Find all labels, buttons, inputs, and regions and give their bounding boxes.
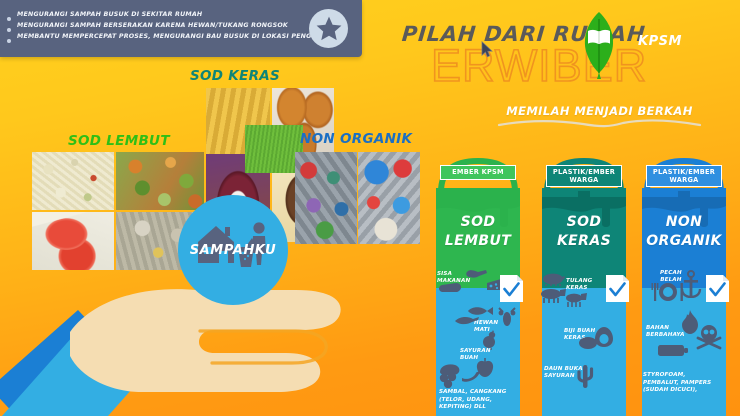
bullet-dot-icon	[7, 17, 11, 21]
chicken-icon	[480, 330, 498, 350]
header-banner: MENGURANGI SAMPAH BUSUK DI SEKITAR RUMAH…	[0, 0, 362, 57]
header-bullet-text: MENGURANGI SAMPAH BERSERAKAN KARENA HEWA…	[17, 23, 288, 29]
bin-title-line2: LEMBUT	[430, 232, 526, 251]
bin-sod-keras[interactable]: PLASTIK/EMBER WARGA SOD KERAS TULANG KER…	[536, 158, 632, 416]
category-label-sod-keras: SOD KERAS	[190, 68, 280, 84]
sampahku-label: SAMPAHKU	[178, 243, 288, 258]
plate-fork-knife-icon	[651, 282, 685, 302]
bin-tag-line2: WARGA	[570, 176, 599, 184]
bin-title: NON ORGANIK	[636, 213, 732, 251]
lobster-icon	[498, 307, 516, 327]
pig-icon	[541, 272, 565, 286]
grapes-icon	[439, 372, 461, 388]
subtitle-text: MEMILAH MENJADI BERKAH	[487, 104, 712, 118]
header-bullet-text: MENGURANGI SAMPAH BUSUK DI SEKITAR RUMAH	[17, 12, 202, 18]
bin-tag-line2: WARGA	[670, 176, 699, 184]
header-bullet-item: MEMBANTU MEMPERCEPAT PROSES, MENGURANGI …	[0, 34, 362, 43]
star-icon	[309, 9, 348, 48]
bin-tag-line1: PLASTIK/EMBER	[553, 168, 615, 176]
bin-note-text: SAMBAL, CANGKANG (TELOR, UDANG, KEPITING…	[439, 389, 506, 412]
header-bullet-item: MENGURANGI SAMPAH BUSUK DI SEKITAR RUMAH	[0, 12, 362, 21]
bullet-dot-icon	[7, 39, 11, 43]
bullet-dot-icon	[7, 28, 11, 32]
chicken-drumstick-icon	[464, 268, 488, 282]
bin-non-organik[interactable]: PLASTIK/EMBER WARGA NON ORGANIK PECAH BE…	[636, 158, 732, 416]
checklist-document-icon	[705, 274, 730, 308]
bin-title-line1: SOD	[430, 213, 526, 232]
mango-seed-icon	[578, 336, 598, 350]
cactus-icon	[576, 362, 594, 388]
bin-tag-label: PLASTIK/EMBER WARGA	[546, 165, 622, 187]
bin-title-line1: NON	[636, 213, 732, 232]
bin-tag-label: PLASTIK/EMBER WARGA	[646, 165, 722, 187]
bin-title-line2: ORGANIK	[636, 232, 732, 251]
cow-icon	[539, 287, 567, 304]
bin-tag-line1: PLASTIK/EMBER	[653, 168, 715, 176]
infographic-poster: SAMPAHKU SOD LEMBUT SOD KERAS NON ORGANI…	[0, 0, 740, 416]
poster-title: ERWIBER PILAH DARI RUMAH KPSM	[395, 8, 735, 86]
chili-icon	[461, 370, 481, 384]
goat-icon	[564, 292, 588, 308]
bin-sod-lembut[interactable]: EMBER KPSM SOD LEMBUT SISA MAKANAN	[430, 158, 526, 416]
title-kpsm: KPSM	[638, 34, 682, 49]
checklist-document-icon	[605, 274, 630, 308]
header-bullet-list: MENGURANGI SAMPAH BUSUK DI SEKITAR RUMAH…	[0, 0, 362, 43]
checklist-document-icon	[499, 274, 524, 308]
category-label-sod-lembut: SOD LEMBUT	[68, 133, 170, 149]
subtitle-block: MEMILAH MENJADI BERKAH	[487, 104, 712, 129]
bin-item-label: TULANG KERAS	[566, 278, 592, 291]
bin-note-text: STYROFOAM, PEMBALUT, PAMPERS (SUDAH DICU…	[643, 372, 711, 395]
bin-title-line1: SOD	[536, 213, 632, 232]
header-bullet-text: MEMBANTU MEMPERCEPAT PROSES, MENGURANGI …	[17, 34, 342, 40]
category-label-non-organik: NON ORGANIK	[300, 131, 412, 147]
lizard-icon	[454, 314, 480, 326]
leaf-book-icon	[581, 11, 617, 79]
subtitle-wave-divider	[497, 119, 702, 129]
bin-title-line2: KERAS	[536, 232, 632, 251]
skull-crossbones-icon	[696, 324, 722, 350]
bin-title: SOD LEMBUT	[430, 213, 526, 251]
bin-title: SOD KERAS	[536, 213, 632, 251]
meat-icon	[438, 282, 464, 294]
header-bullet-item: MENGURANGI SAMPAH BERSERAKAN KARENA HEWA…	[0, 23, 362, 32]
hand-illustration	[0, 200, 420, 416]
bin-tag-label: EMBER KPSM	[440, 165, 516, 180]
bin-item-label: BAHAN BERBAHAYA	[646, 325, 685, 338]
battery-icon	[658, 344, 688, 357]
